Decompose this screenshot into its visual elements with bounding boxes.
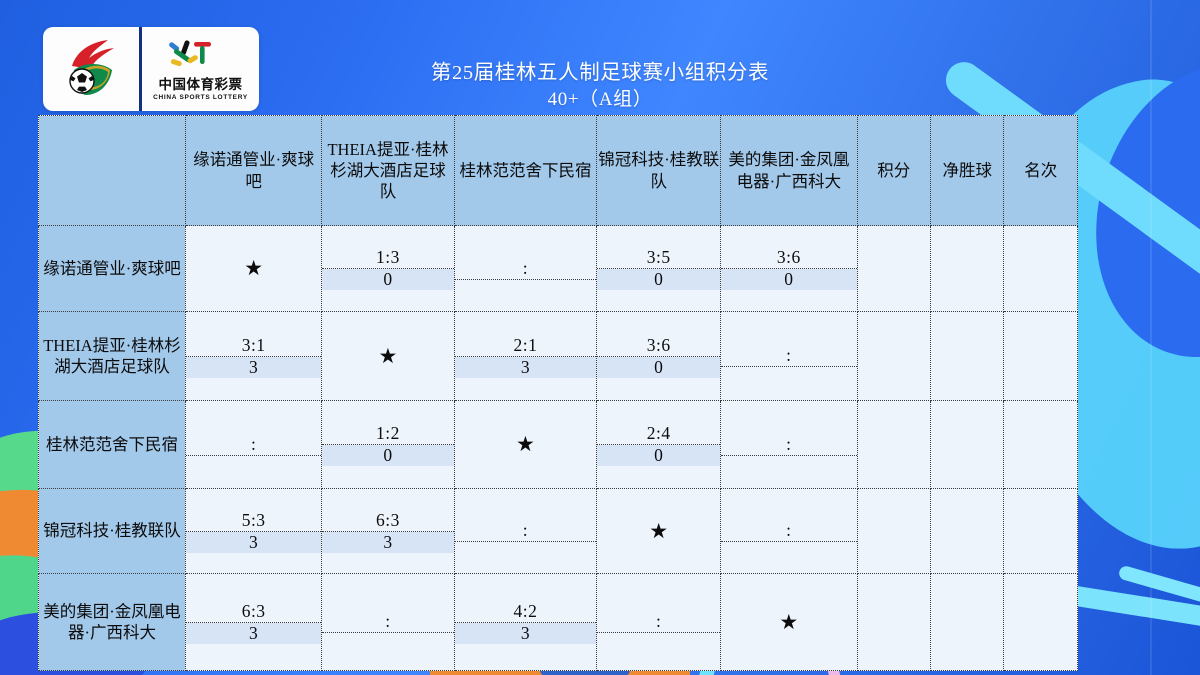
match-score: :	[597, 611, 720, 633]
match-result-cell: 4:23	[454, 574, 597, 671]
match-result-cell: 1:30	[322, 226, 454, 312]
match-score: :	[186, 434, 321, 456]
points-total-cell	[857, 312, 930, 401]
match-score: 1:2	[322, 423, 453, 445]
sponsor-logo-card: 中国体育彩票 CHINA SPORTS LOTTERY	[43, 27, 259, 111]
match-score: 2:1	[455, 335, 597, 357]
col-header-team-2: THEIA提亚·桂林杉湖大酒店足球队	[322, 116, 454, 226]
match-score: 6:3	[322, 510, 453, 532]
match-score: :	[455, 520, 597, 542]
header-row: 缘诺通管业·爽球吧 THEIA提亚·桂林杉湖大酒店足球队 桂林范范舍下民宿 锦冠…	[39, 116, 1078, 226]
match-result-cell: 3:50	[597, 226, 721, 312]
match-points: 0	[322, 445, 453, 466]
match-points: 3	[322, 532, 453, 553]
match-result-cell: :	[597, 574, 721, 671]
match-score: 6:3	[186, 601, 321, 623]
table-header: 缘诺通管业·爽球吧 THEIA提亚·桂林杉湖大酒店足球队 桂林范范舍下民宿 锦冠…	[39, 116, 1078, 226]
match-result-cell: 3:60	[597, 312, 721, 401]
match-score: 4:2	[455, 601, 597, 623]
col-header-team-5: 美的集团·金凤凰电器·广西科大	[721, 116, 857, 226]
goal-difference-cell	[931, 574, 1004, 671]
points-total-cell	[857, 401, 930, 489]
col-header-team-1: 缘诺通管业·爽球吧	[185, 116, 321, 226]
match-points: 0	[597, 269, 720, 290]
match-score: 2:4	[597, 423, 720, 445]
row-header-team: 缘诺通管业·爽球吧	[39, 226, 186, 312]
match-score: 3:6	[721, 247, 856, 269]
match-score: :	[455, 258, 597, 280]
table-row: THEIA提亚·桂林杉湖大酒店足球队3:13★2:133:60:	[39, 312, 1078, 401]
match-points: 0	[597, 357, 720, 378]
match-points: 3	[455, 357, 597, 378]
title-block: 第25届桂林五人制足球赛小组积分表 40+（A组）	[280, 60, 920, 112]
row-header-team: 锦冠科技·桂教联队	[39, 489, 186, 574]
match-result-cell: 3:13	[185, 312, 321, 401]
row-header-team: 桂林范范舍下民宿	[39, 401, 186, 489]
lottery-mark-icon	[163, 38, 239, 72]
match-result-cell: 6:33	[185, 574, 321, 671]
goal-difference-cell	[931, 226, 1004, 312]
goal-difference-cell	[931, 489, 1004, 574]
self-cell-star: ★	[322, 312, 454, 401]
col-header-team-4: 锦冠科技·桂教联队	[597, 116, 721, 226]
match-points: 0	[597, 445, 720, 466]
match-result-cell: 1:20	[322, 401, 454, 489]
goal-difference-cell	[931, 312, 1004, 401]
match-points: 3	[186, 357, 321, 378]
match-result-cell: :	[185, 401, 321, 489]
self-cell-star: ★	[454, 401, 597, 489]
match-score: 1:3	[322, 247, 453, 269]
football-association-logo	[43, 27, 139, 111]
match-points: 0	[721, 269, 856, 290]
match-result-cell: 6:33	[322, 489, 454, 574]
match-score: :	[721, 434, 856, 456]
match-result-cell: :	[454, 489, 597, 574]
lottery-name-cn: 中国体育彩票	[159, 73, 243, 93]
self-cell-star: ★	[721, 574, 857, 671]
col-header-points: 积分	[857, 116, 930, 226]
table-row: 美的集团·金凤凰电器·广西科大6:33:4:23:★	[39, 574, 1078, 671]
match-score: :	[721, 520, 856, 542]
row-header-team: THEIA提亚·桂林杉湖大酒店足球队	[39, 312, 186, 401]
match-result-cell: 2:13	[454, 312, 597, 401]
match-points: 3	[186, 623, 321, 644]
match-points: 3	[455, 623, 597, 644]
col-header-goaldiff: 净胜球	[931, 116, 1004, 226]
match-points: 3	[186, 532, 321, 553]
match-score: 3:5	[597, 247, 720, 269]
match-score: 3:1	[186, 335, 321, 357]
decor-cyan-arc-2	[1118, 565, 1200, 642]
page-title: 第25届桂林五人制足球赛小组积分表	[280, 60, 920, 87]
match-result-cell: :	[322, 574, 454, 671]
match-points: 0	[322, 269, 453, 290]
decor-globe-cutout	[1059, 32, 1200, 388]
match-result-cell: :	[721, 401, 857, 489]
standings-table: 缘诺通管业·爽球吧 THEIA提亚·桂林杉湖大酒店足球队 桂林范范舍下民宿 锦冠…	[38, 115, 1078, 671]
row-header-team: 美的集团·金凤凰电器·广西科大	[39, 574, 186, 671]
points-total-cell	[857, 574, 930, 671]
match-score: 5:3	[186, 510, 321, 532]
rank-cell	[1004, 574, 1078, 671]
match-result-cell: 2:40	[597, 401, 721, 489]
match-result-cell: 5:33	[185, 489, 321, 574]
match-result-cell: :	[721, 489, 857, 574]
match-result-cell: :	[721, 312, 857, 401]
table-row: 锦冠科技·桂教联队5:336:33:★:	[39, 489, 1078, 574]
page-subtitle: 40+（A组）	[280, 87, 920, 112]
points-total-cell	[857, 226, 930, 312]
rank-cell	[1004, 312, 1078, 401]
decor-vertical-line	[1150, 0, 1152, 675]
table-row: 缘诺通管业·爽球吧★1:30:3:503:60	[39, 226, 1078, 312]
rank-cell	[1004, 226, 1078, 312]
col-header-rank: 名次	[1004, 116, 1078, 226]
rank-cell	[1004, 401, 1078, 489]
match-score: :	[322, 611, 453, 633]
china-sports-lottery-logo: 中国体育彩票 CHINA SPORTS LOTTERY	[142, 27, 259, 111]
col-header-team-3: 桂林范范舍下民宿	[454, 116, 597, 226]
match-result-cell: :	[454, 226, 597, 312]
table-row: 桂林范范舍下民宿:1:20★2:40:	[39, 401, 1078, 489]
goal-difference-cell	[931, 401, 1004, 489]
match-score: :	[721, 345, 856, 367]
match-result-cell: 3:60	[721, 226, 857, 312]
lottery-name-en: CHINA SPORTS LOTTERY	[153, 94, 248, 101]
self-cell-star: ★	[185, 226, 321, 312]
table-corner-cell	[39, 116, 186, 226]
match-score: 3:6	[597, 335, 720, 357]
rank-cell	[1004, 489, 1078, 574]
slide-canvas: 中国体育彩票 CHINA SPORTS LOTTERY 第25届桂林五人制足球赛…	[0, 0, 1200, 675]
table-body: 缘诺通管业·爽球吧★1:30:3:503:60THEIA提亚·桂林杉湖大酒店足球…	[39, 226, 1078, 671]
points-total-cell	[857, 489, 930, 574]
self-cell-star: ★	[597, 489, 721, 574]
